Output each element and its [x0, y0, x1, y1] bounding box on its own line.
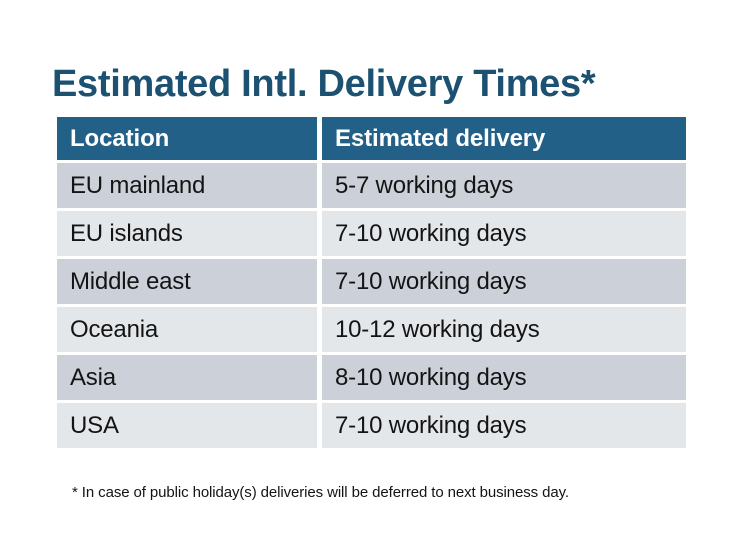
- table-row: USA 7-10 working days: [57, 403, 686, 448]
- footnote-text: * In case of public holiday(s) deliverie…: [72, 483, 712, 503]
- table-header-row: Location Estimated delivery: [57, 117, 686, 160]
- table-header: Location Estimated delivery: [57, 117, 686, 160]
- cell-estimated-delivery: 7-10 working days: [322, 211, 686, 256]
- cell-location: USA: [57, 403, 317, 448]
- cell-estimated-delivery: 7-10 working days: [322, 403, 686, 448]
- table-row: EU mainland 5-7 working days: [57, 163, 686, 208]
- cell-estimated-delivery: 5-7 working days: [322, 163, 686, 208]
- column-header-location: Location: [57, 117, 317, 160]
- cell-location: Asia: [57, 355, 317, 400]
- cell-location: EU mainland: [57, 163, 317, 208]
- page-title: Estimated Intl. Delivery Times*: [52, 61, 712, 107]
- cell-estimated-delivery: 7-10 working days: [322, 259, 686, 304]
- cell-location: Oceania: [57, 307, 317, 352]
- column-header-estimated-delivery: Estimated delivery: [322, 117, 686, 160]
- table-body: EU mainland 5-7 working days EU islands …: [57, 163, 686, 448]
- table-row: EU islands 7-10 working days: [57, 211, 686, 256]
- table-row: Middle east 7-10 working days: [57, 259, 686, 304]
- cell-estimated-delivery: 8-10 working days: [322, 355, 686, 400]
- cell-location: EU islands: [57, 211, 317, 256]
- delivery-times-table: Location Estimated delivery EU mainland …: [52, 114, 691, 451]
- delivery-times-page: Estimated Intl. Delivery Times* Location…: [0, 0, 745, 536]
- cell-location: Middle east: [57, 259, 317, 304]
- cell-estimated-delivery: 10-12 working days: [322, 307, 686, 352]
- table-row: Asia 8-10 working days: [57, 355, 686, 400]
- table-row: Oceania 10-12 working days: [57, 307, 686, 352]
